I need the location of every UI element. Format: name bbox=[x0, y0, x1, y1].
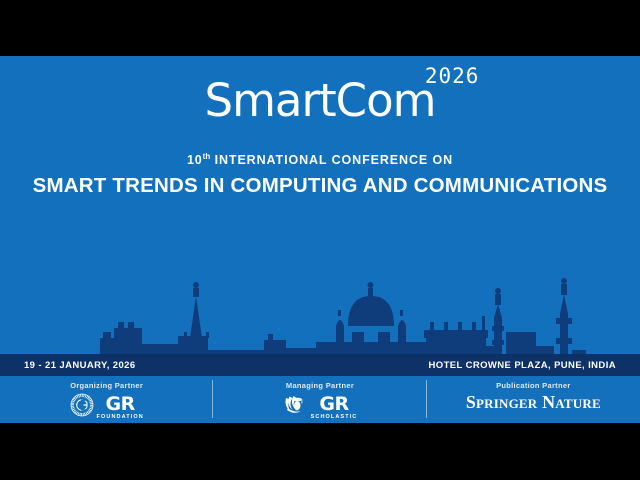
logo-wordmark: SmartCom bbox=[205, 78, 436, 123]
poster-stage: SmartCom 2026 10th INTERNATIONAL CONFERE… bbox=[0, 56, 640, 423]
gr-scholastic-wordmark: GR SCHOLASTIC bbox=[311, 395, 358, 421]
globe-swoosh-graduate-emblem-icon bbox=[283, 393, 308, 422]
smartcom-logo: SmartCom 2026 bbox=[0, 78, 640, 123]
gr-foundation-wordmark: GR FOUNDATION bbox=[97, 395, 144, 421]
gr-foundation-logo: GR FOUNDATION bbox=[70, 393, 144, 422]
partner-publication: Publication Partner Springer Nature bbox=[427, 376, 640, 423]
conference-dates: 19 - 21 JANUARY, 2026 bbox=[24, 360, 136, 371]
conference-title: SMART TRENDS IN COMPUTING AND COMMUNICAT… bbox=[0, 174, 640, 198]
partner-publication-label: Publication Partner bbox=[496, 381, 570, 390]
partner-organizing-label: Organizing Partner bbox=[70, 381, 143, 390]
edition-number: 10 bbox=[187, 153, 203, 167]
conference-venue: HOTEL CROWNE PLAZA, PUNE, INDIA bbox=[429, 360, 616, 371]
gr-foundation-subtitle: FOUNDATION bbox=[97, 415, 144, 421]
letterbox-bar-bottom bbox=[0, 423, 640, 480]
gr-scholastic-initials: GR bbox=[319, 395, 348, 414]
springer-nature-wordmark: Springer Nature bbox=[466, 393, 601, 411]
partner-organizing: Organizing Partner bbox=[0, 376, 213, 423]
conference-edition-line: 10th INTERNATIONAL CONFERENCE ON bbox=[0, 152, 640, 167]
edition-rest-text: INTERNATIONAL CONFERENCE ON bbox=[210, 153, 453, 167]
conference-heading: 10th INTERNATIONAL CONFERENCE ON SMART T… bbox=[0, 152, 640, 198]
gr-scholastic-subtitle: SCHOLASTIC bbox=[311, 415, 358, 421]
logo-year: 2026 bbox=[425, 66, 480, 87]
gr-foundation-initials: GR bbox=[106, 395, 135, 414]
circular-seal-emblem-icon bbox=[70, 393, 94, 422]
gr-scholastic-logo: GR SCHOLASTIC bbox=[283, 393, 358, 422]
letterbox-bar-top bbox=[0, 0, 640, 56]
date-venue-bar: 19 - 21 JANUARY, 2026 HOTEL CROWNE PLAZA… bbox=[0, 354, 640, 376]
partner-managing: Managing Partner bbox=[213, 376, 426, 423]
partner-managing-label: Managing Partner bbox=[286, 381, 354, 390]
logo-wrapper: SmartCom 2026 bbox=[205, 78, 436, 123]
conference-banner: SmartCom 2026 10th INTERNATIONAL CONFERE… bbox=[0, 0, 640, 480]
partners-strip: Organizing Partner bbox=[0, 376, 640, 423]
